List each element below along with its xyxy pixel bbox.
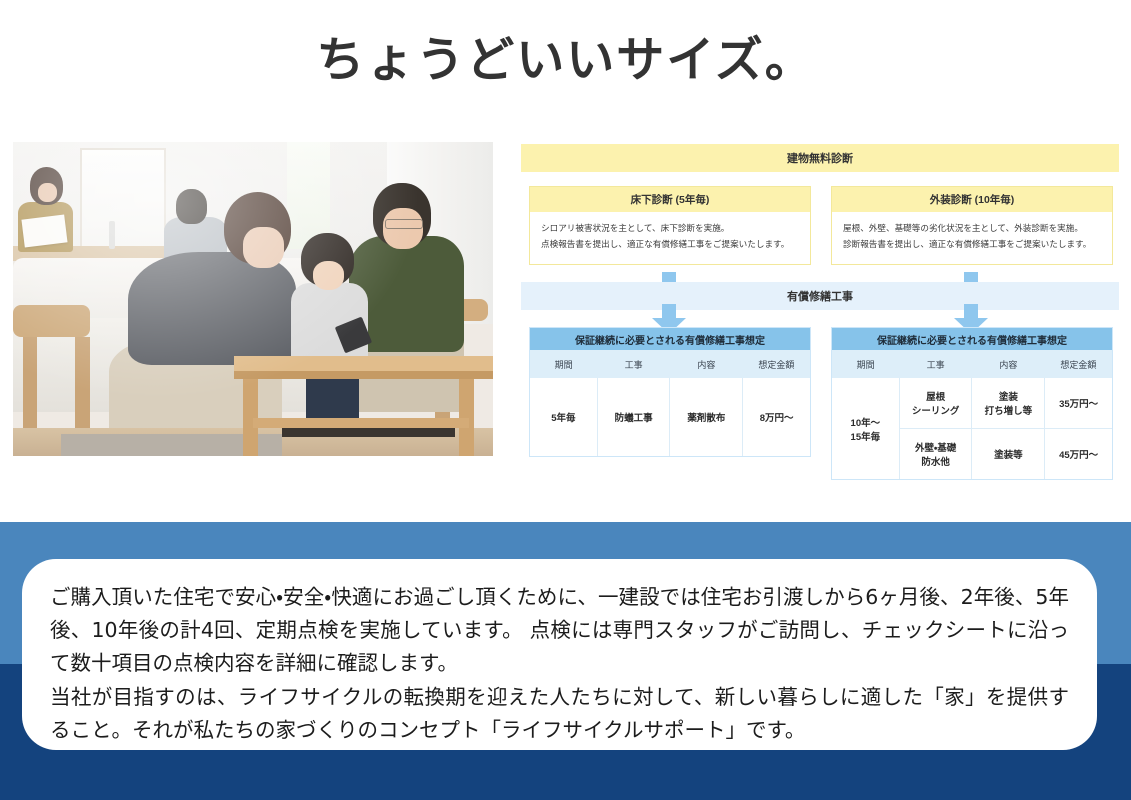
photo-scene [13, 142, 493, 456]
table-left: 期間 工事 内容 想定金額 5年毎 防蟻工事 薬剤散布 8万円〜 [530, 350, 810, 456]
lifecycle-support-note-card: ご購入頂いた住宅で安心・安全・快適にお過ごし頂くために、一建設では住宅お引渡しか… [22, 559, 1097, 750]
photo-sofa-leg-two [75, 337, 89, 431]
cell-content-line-1: 塗装 [974, 389, 1042, 403]
photo-grandmother-face [243, 227, 284, 268]
lifecycle-support-note-text: ご購入頂いた住宅で安心・安全・快適にお過ごし頂くために、一建設では住宅お引渡しか… [50, 581, 1069, 747]
column-header-period: 期間 [832, 350, 899, 378]
photo-person-mother-face [38, 183, 57, 202]
photo-person-father-head [176, 189, 207, 224]
cell-work-line-2: 防水他 [902, 454, 970, 468]
cell-work: 外壁・基礎 防水他 [899, 429, 972, 480]
photo-paper [21, 215, 67, 248]
table-header-row: 期間 工事 内容 想定金額 [530, 350, 810, 378]
cell-work: 屋根 シーリング [899, 378, 972, 429]
card-exterior-inspection: 外装診断 (10年毎) 屋根、外壁、基礎等の劣化状況を主として、外装診断を実施。… [831, 186, 1113, 265]
cell-period: 5年毎 [530, 378, 597, 456]
photo-table-shelf [253, 418, 469, 427]
cell-period-line-1: 10年〜 [834, 415, 897, 429]
cell-content: 塗装等 [972, 429, 1045, 480]
photo-grandmother-body [128, 252, 296, 365]
page-title: ちょうどいいサイズ。 [0, 32, 1131, 90]
column-header-amount: 想定金額 [743, 350, 810, 378]
card-floor-inspection-line-2: 点検報告書を提出し、適正な有償修繕工事をご提案いたします。 [541, 237, 799, 253]
column-header-work: 工事 [597, 350, 670, 378]
card-exterior-inspection-line-2: 診断報告書を提出し、適正な有償修繕工事をご提案いたします。 [843, 237, 1101, 253]
repair-estimate-table-left: 保証継続に必要とされる有償修繕工事想定 期間 工事 内容 想定金額 5年毎 防蟻… [529, 327, 811, 457]
cell-amount: 35万円〜 [1045, 378, 1112, 429]
cell-amount: 8万円〜 [743, 378, 810, 456]
cell-content: 薬剤散布 [670, 378, 743, 456]
repair-estimate-table-right-heading: 保証継続に必要とされる有償修繕工事想定 [832, 328, 1112, 350]
photo-child-face [313, 261, 344, 289]
maintenance-diagram: 建物無料診断 床下診断 (5年毎) シロアリ被害状況を主として、床下診断を実施。… [521, 144, 1119, 464]
photo-sofa-leg-one [23, 337, 37, 431]
photo-table-top [234, 356, 493, 372]
cell-amount: 45万円〜 [1045, 429, 1112, 480]
family-living-room-photo [13, 142, 493, 456]
card-floor-inspection-line-1: シロアリ被害状況を主として、床下診断を実施。 [541, 221, 799, 237]
column-header-period: 期間 [530, 350, 597, 378]
photo-sofa-arm-left [13, 305, 90, 336]
diagram-middle-band: 有償修繕工事 [521, 282, 1119, 310]
card-floor-inspection-body: シロアリ被害状況を主として、床下診断を実施。 点検報告書を提出し、適正な有償修繕… [530, 212, 810, 264]
cell-work: 防蟻工事 [597, 378, 670, 456]
card-floor-inspection-heading: 床下診断 (5年毎) [530, 187, 810, 212]
photo-table-leg-right [459, 378, 473, 457]
column-header-content: 内容 [670, 350, 743, 378]
repair-estimate-table-right: 保証継続に必要とされる有償修繕工事想定 期間 工事 内容 想定金額 10年〜 1… [831, 327, 1113, 480]
column-header-content: 内容 [972, 350, 1045, 378]
cell-work-line-1: 外壁・基礎 [902, 440, 970, 454]
table-header-row: 期間 工事 内容 想定金額 [832, 350, 1112, 378]
column-header-amount: 想定金額 [1045, 350, 1112, 378]
cell-period-line-2: 15年毎 [834, 429, 897, 443]
column-header-work: 工事 [899, 350, 972, 378]
diagram-top-band: 建物無料診断 [521, 144, 1119, 172]
photo-grandfather-glasses [385, 219, 423, 229]
cell-content: 塗装 打ち増し等 [972, 378, 1045, 429]
cell-work-line-2: シーリング [902, 403, 970, 417]
cell-work-line-1: 屋根 [902, 389, 970, 403]
card-exterior-inspection-body: 屋根、外壁、基礎等の劣化状況を主として、外装診断を実施。 診断報告書を提出し、適… [832, 212, 1112, 264]
photo-faucet [109, 221, 115, 249]
card-exterior-inspection-heading: 外装診断 (10年毎) [832, 187, 1112, 212]
card-floor-inspection: 床下診断 (5年毎) シロアリ被害状況を主として、床下診断を実施。 点検報告書を… [529, 186, 811, 265]
repair-estimate-table-left-heading: 保証継続に必要とされる有償修繕工事想定 [530, 328, 810, 350]
table-row: 5年毎 防蟻工事 薬剤散布 8万円〜 [530, 378, 810, 456]
photo-table-leg-left [243, 378, 257, 457]
table-row: 10年〜 15年毎 屋根 シーリング 塗装 打ち増し等 35万円〜 [832, 378, 1112, 429]
cell-content-line-2: 打ち増し等 [974, 403, 1042, 417]
cell-period-merged: 10年〜 15年毎 [832, 378, 899, 479]
card-exterior-inspection-line-1: 屋根、外壁、基礎等の劣化状況を主として、外装診断を実施。 [843, 221, 1101, 237]
table-right: 期間 工事 内容 想定金額 10年〜 15年毎 屋根 シーリング [832, 350, 1112, 479]
